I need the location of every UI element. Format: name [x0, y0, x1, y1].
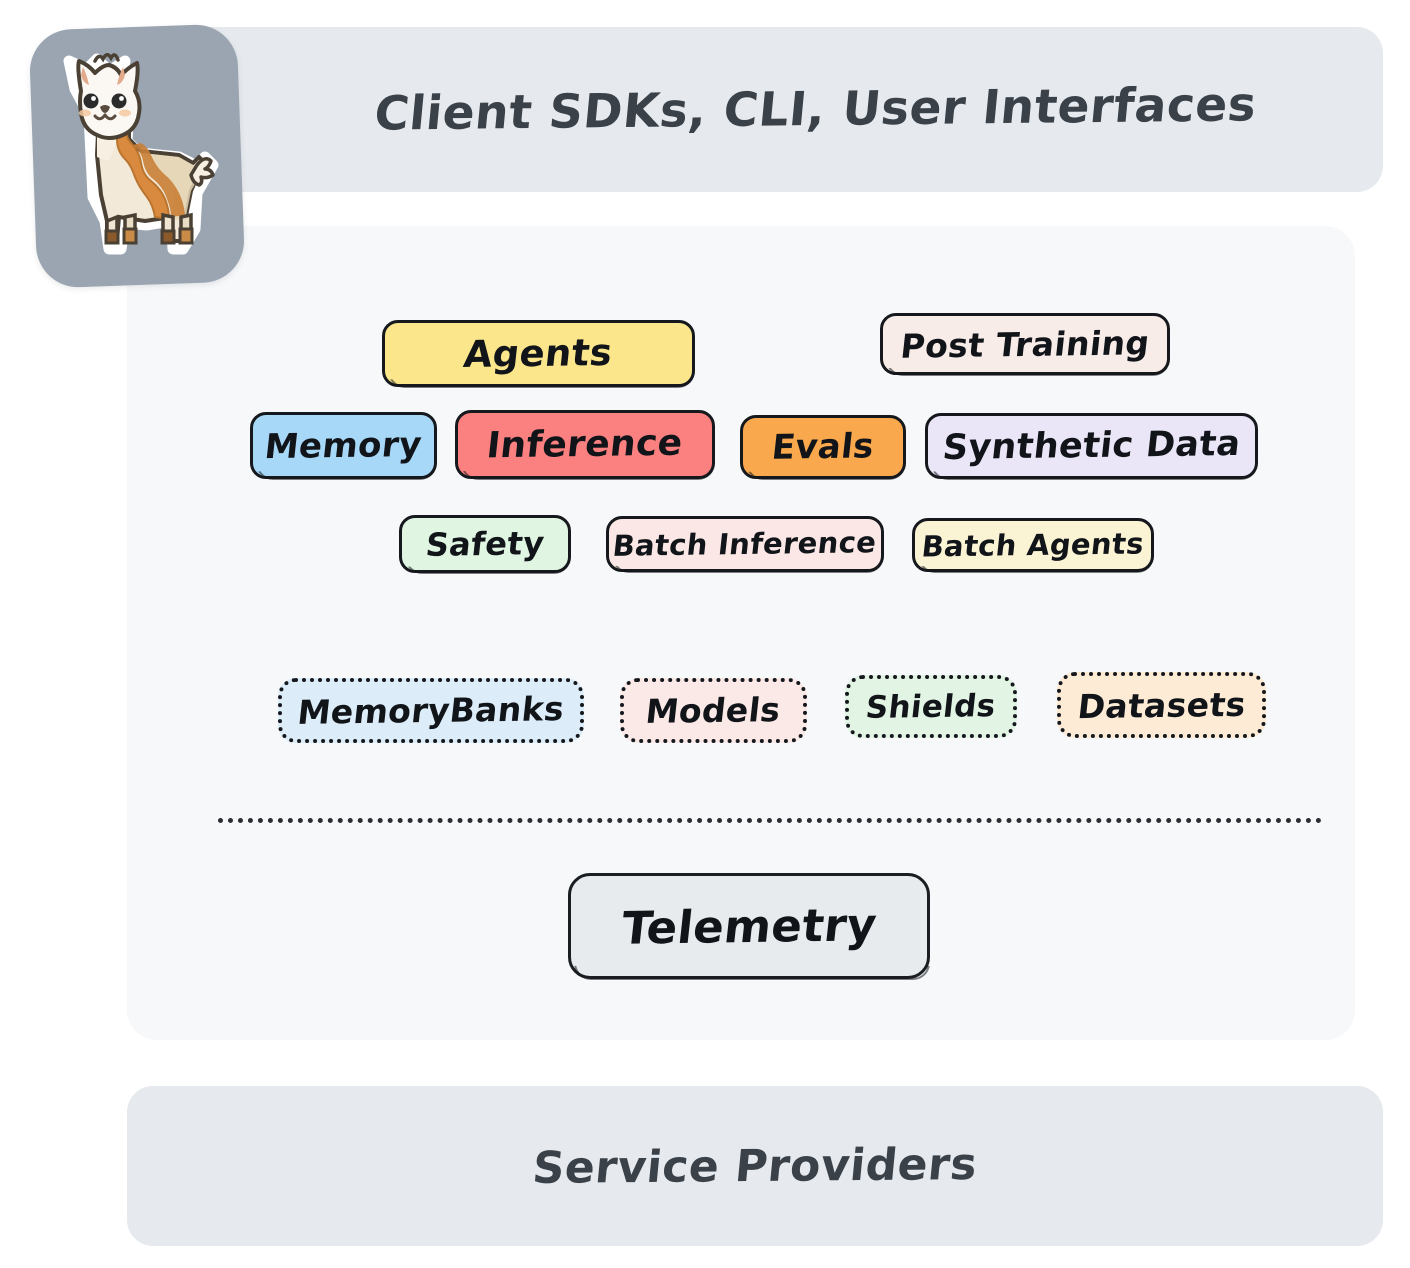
api-node-batch-inference[interactable]: Batch Inference [606, 516, 884, 572]
resource-node-shields[interactable]: Shields [845, 675, 1017, 738]
header-title: Client SDKs, CLI, User Interfaces [371, 77, 1258, 141]
diagram-canvas: Client SDKs, CLI, User Interfaces [0, 0, 1410, 1268]
api-node-agents[interactable]: Agents [382, 320, 695, 387]
telemetry-node[interactable]: Telemetry [568, 873, 930, 979]
resource-node-models[interactable]: Models [620, 678, 807, 743]
footer-band-service-providers: Service Providers [127, 1086, 1383, 1246]
api-node-batch-inference-label: Batch Inference [611, 525, 878, 563]
api-node-inference-label: Inference [485, 423, 685, 467]
footer-title: Service Providers [530, 1139, 979, 1194]
resource-node-datasets[interactable]: Datasets [1057, 672, 1266, 738]
api-node-evals[interactable]: Evals [740, 415, 906, 479]
api-node-evals-label: Evals [770, 426, 876, 467]
resource-node-memorybanks[interactable]: MemoryBanks [278, 678, 584, 743]
api-node-synthetic-data[interactable]: Synthetic Data [925, 413, 1258, 479]
header-band-client-layer: Client SDKs, CLI, User Interfaces [127, 27, 1383, 192]
api-node-post-training-label: Post Training [899, 323, 1152, 365]
resource-node-models-label: Models [644, 690, 783, 731]
api-node-synthetic-data-label: Synthetic Data [940, 424, 1242, 468]
api-node-batch-agents[interactable]: Batch Agents [912, 518, 1154, 572]
llama-logo-icon [47, 45, 227, 267]
api-node-agents-label: Agents [462, 331, 615, 376]
resource-node-datasets-label: Datasets [1075, 684, 1247, 725]
section-divider [218, 818, 1322, 823]
api-node-inference[interactable]: Inference [455, 410, 715, 479]
api-node-safety[interactable]: Safety [399, 515, 571, 573]
telemetry-node-label: Telemetry [619, 898, 880, 955]
api-node-post-training[interactable]: Post Training [880, 313, 1170, 375]
api-node-memory-label: Memory [263, 424, 424, 466]
llama-logo-tile [29, 23, 246, 288]
api-node-memory[interactable]: Memory [250, 412, 437, 479]
api-node-batch-agents-label: Batch Agents [920, 526, 1146, 563]
resource-node-shields-label: Shields [864, 688, 998, 726]
resource-node-memorybanks-label: MemoryBanks [296, 689, 567, 732]
api-node-safety-label: Safety [424, 524, 547, 564]
